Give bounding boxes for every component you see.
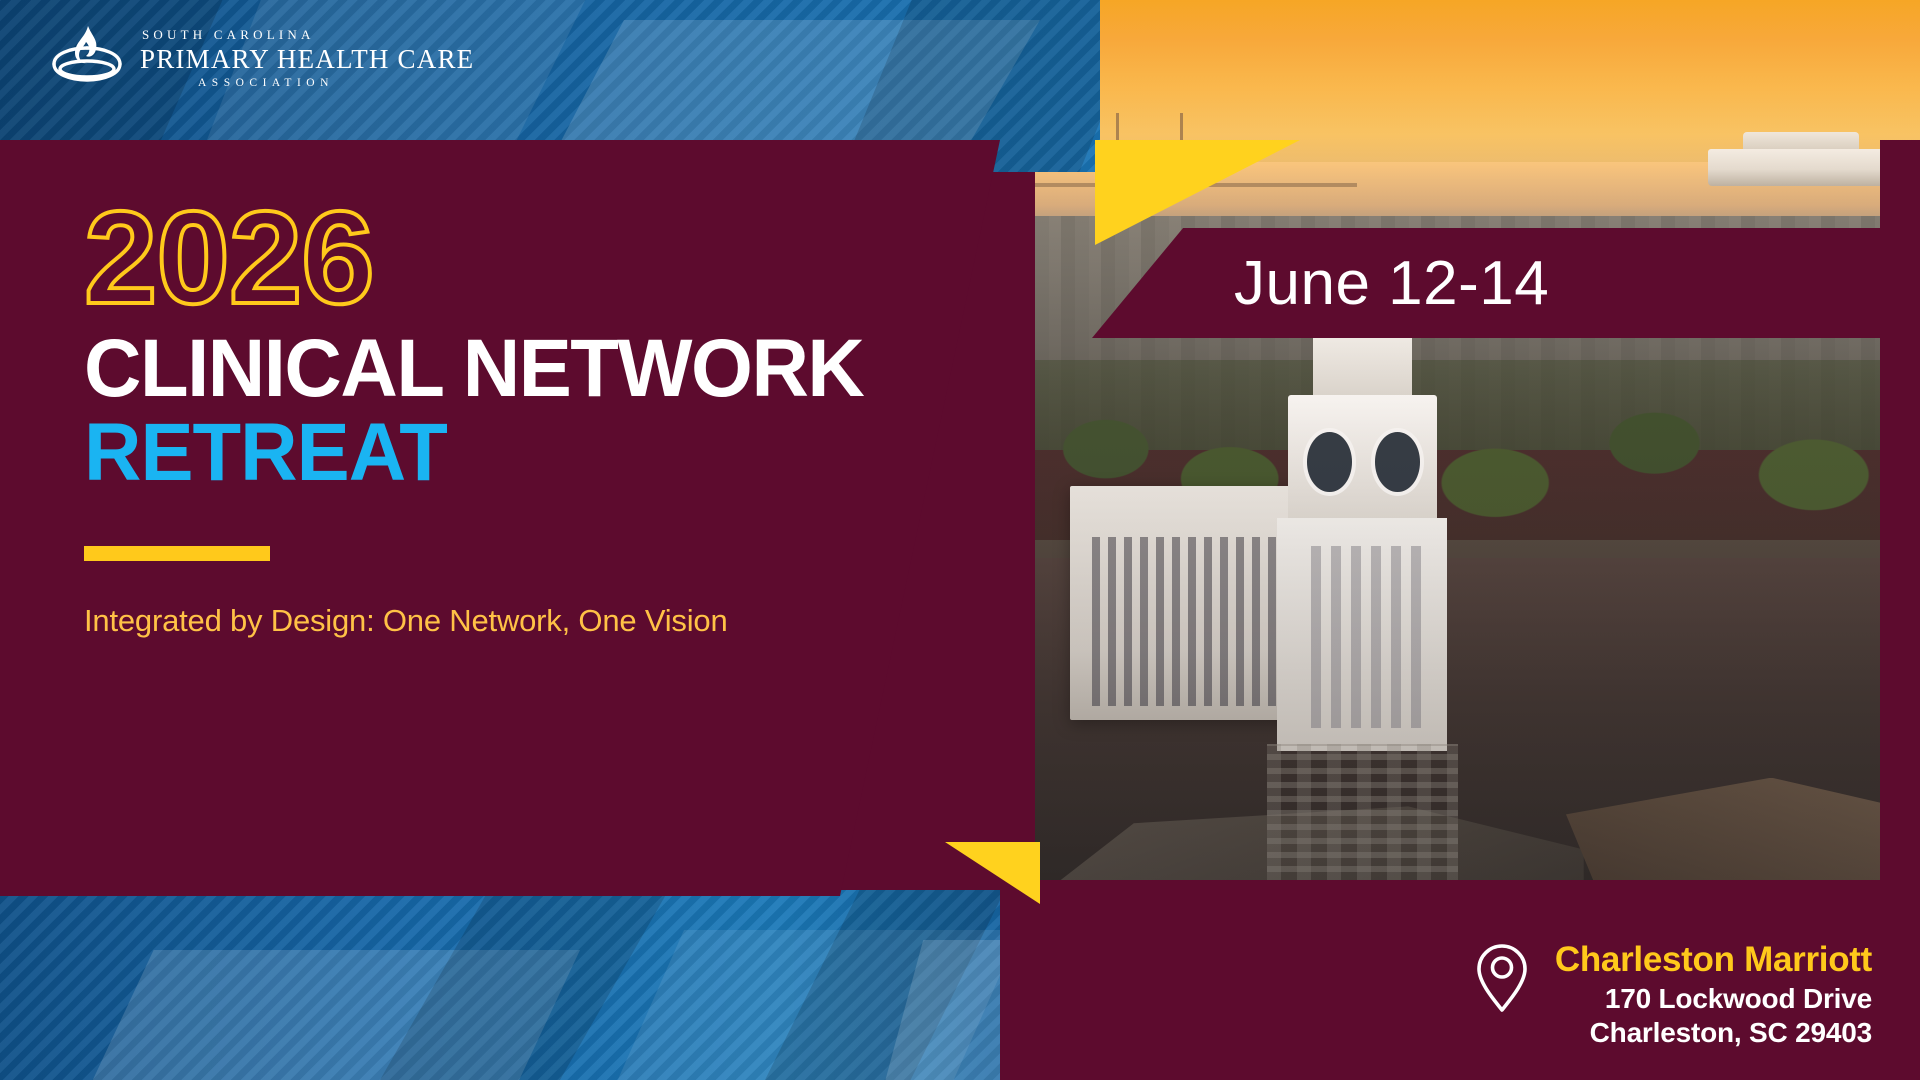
venue-city-state-zip: Charleston, SC 29403	[1555, 1016, 1872, 1050]
charleston-skyline-photo	[1035, 0, 1920, 900]
event-title-line-1: CLINICAL NETWORK	[84, 328, 879, 410]
event-title-block: 2026 CLINICAL NETWORK RETREAT Integrated…	[84, 196, 904, 639]
venue-address: Charleston Marriott 170 Lockwood Drive C…	[1555, 939, 1872, 1050]
scphca-logo: SOUTH CAROLINA PRIMARY HEALTH CARE ASSOC…	[48, 22, 474, 96]
civic-building	[1070, 486, 1300, 720]
venue-name: Charleston Marriott	[1555, 939, 1872, 982]
steeple-body	[1277, 518, 1447, 751]
steeple-base	[1267, 744, 1458, 900]
event-year: 2026	[84, 196, 904, 320]
logo-line-top: SOUTH CAROLINA	[140, 28, 474, 41]
logo-line-mid: PRIMARY HEALTH CARE	[140, 46, 474, 73]
steeple-clock-faces	[1288, 395, 1437, 525]
footer-blue-panel	[0, 890, 1035, 1080]
venue-location-block: Charleston Marriott 170 Lockwood Drive C…	[1475, 939, 1872, 1050]
event-promo-banner: SOUTH CAROLINA PRIMARY HEALTH CARE ASSOC…	[0, 0, 1920, 1080]
church-steeple	[1274, 252, 1451, 900]
logo-wordmark: SOUTH CAROLINA PRIMARY HEALTH CARE ASSOC…	[140, 28, 474, 90]
logo-line-bottom: ASSOCIATION	[140, 78, 474, 90]
event-title-line-2: RETREAT	[84, 412, 879, 494]
event-tagline: Integrated by Design: One Network, One V…	[84, 603, 904, 639]
event-date-banner: June 12-14	[1092, 228, 1920, 338]
venue-street: 170 Lockwood Drive	[1555, 982, 1872, 1016]
map-pin-icon	[1475, 943, 1529, 1013]
flame-in-water-logo-icon	[48, 22, 126, 96]
cruise-ship	[1708, 149, 1903, 187]
event-dates: June 12-14	[1234, 248, 1549, 319]
gold-divider-bar	[84, 546, 270, 561]
photo-layers	[1035, 0, 1920, 900]
